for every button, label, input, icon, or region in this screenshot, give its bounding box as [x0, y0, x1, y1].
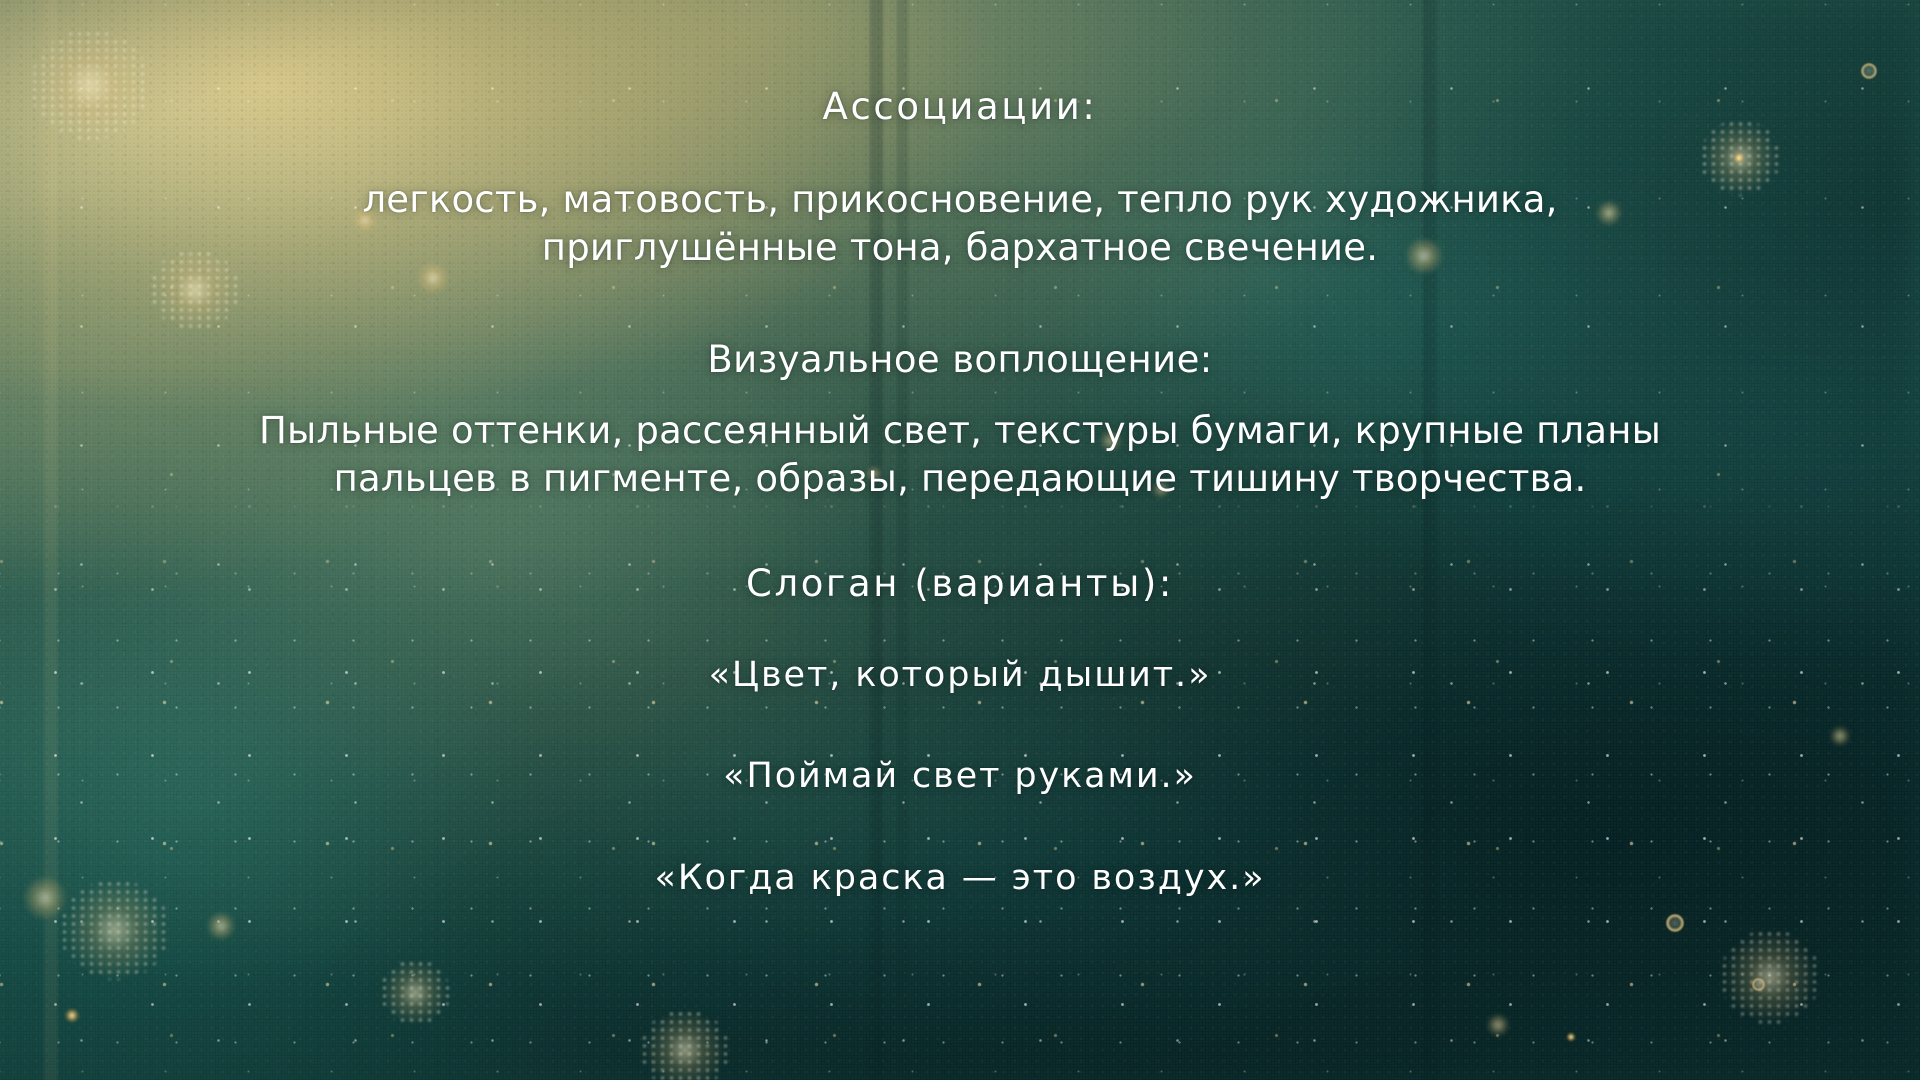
visual-embodiment-line-1: Пыльные оттенки, рассеянный свет, тексту…: [0, 407, 1920, 455]
slogan-option-2: «Поймай свет руками.»: [0, 754, 1920, 800]
slide-content: Ассоциации: легкость, матовость, прикосн…: [0, 0, 1920, 1080]
slogan-option-3: «Когда краска — это воздух.»: [0, 856, 1920, 902]
visual-embodiment-heading: Визуальное воплощение:: [0, 336, 1920, 384]
slogan-option-1: «Цвет, который дышит.»: [0, 653, 1920, 699]
associations-heading: Ассоциации:: [0, 84, 1920, 130]
presentation-slide: Ассоциации: легкость, матовость, прикосн…: [0, 0, 1920, 1080]
slogan-heading: Слоган (варианты):: [0, 561, 1920, 607]
visual-embodiment-line-2: пальцев в пигменте, образы, передающие т…: [0, 455, 1920, 503]
associations-line-2: приглушённые тона, бархатное свечение.: [0, 224, 1920, 272]
associations-line-1: легкость, матовость, прикосновение, тепл…: [0, 176, 1920, 224]
